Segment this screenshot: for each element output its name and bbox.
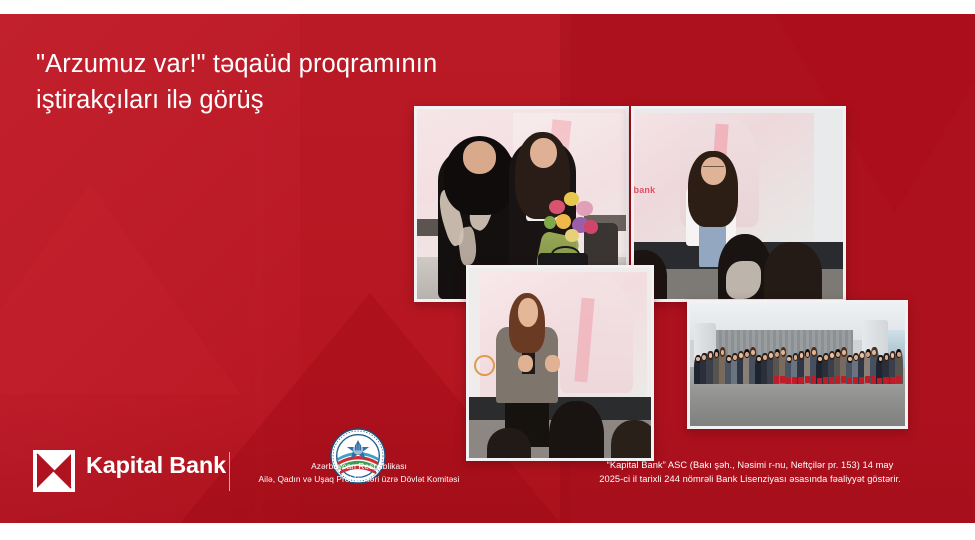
photo-group-ceremony: [687, 300, 908, 429]
kapital-bank-logo-mark: [33, 450, 75, 492]
projector-screen-brand-text: rbank: [631, 185, 655, 195]
kapital-bank-bowtie-icon: [33, 450, 75, 492]
presentation-slide: "Arzumuz var!" təqaüd proqramının iştira…: [0, 0, 975, 540]
photo-young-speaker-image: rbank: [634, 109, 843, 299]
photo-presenter-image: [469, 268, 651, 458]
kapital-bank-wordmark: Kapital Bank: [86, 452, 226, 479]
footer-divider: [229, 452, 230, 491]
legal-disclaimer-text: “Kapital Bank” ASC (Bakı şəh., Nəsimi r-…: [540, 458, 960, 487]
photo-presenter-grey-blazer: [466, 265, 654, 461]
committee-name-text: Azərbaycan Respublikası Ailə, Qadın və U…: [238, 460, 480, 486]
photo-group-ceremony-image: [690, 303, 905, 426]
photo-young-speaker-presentation: rbank: [631, 106, 846, 302]
